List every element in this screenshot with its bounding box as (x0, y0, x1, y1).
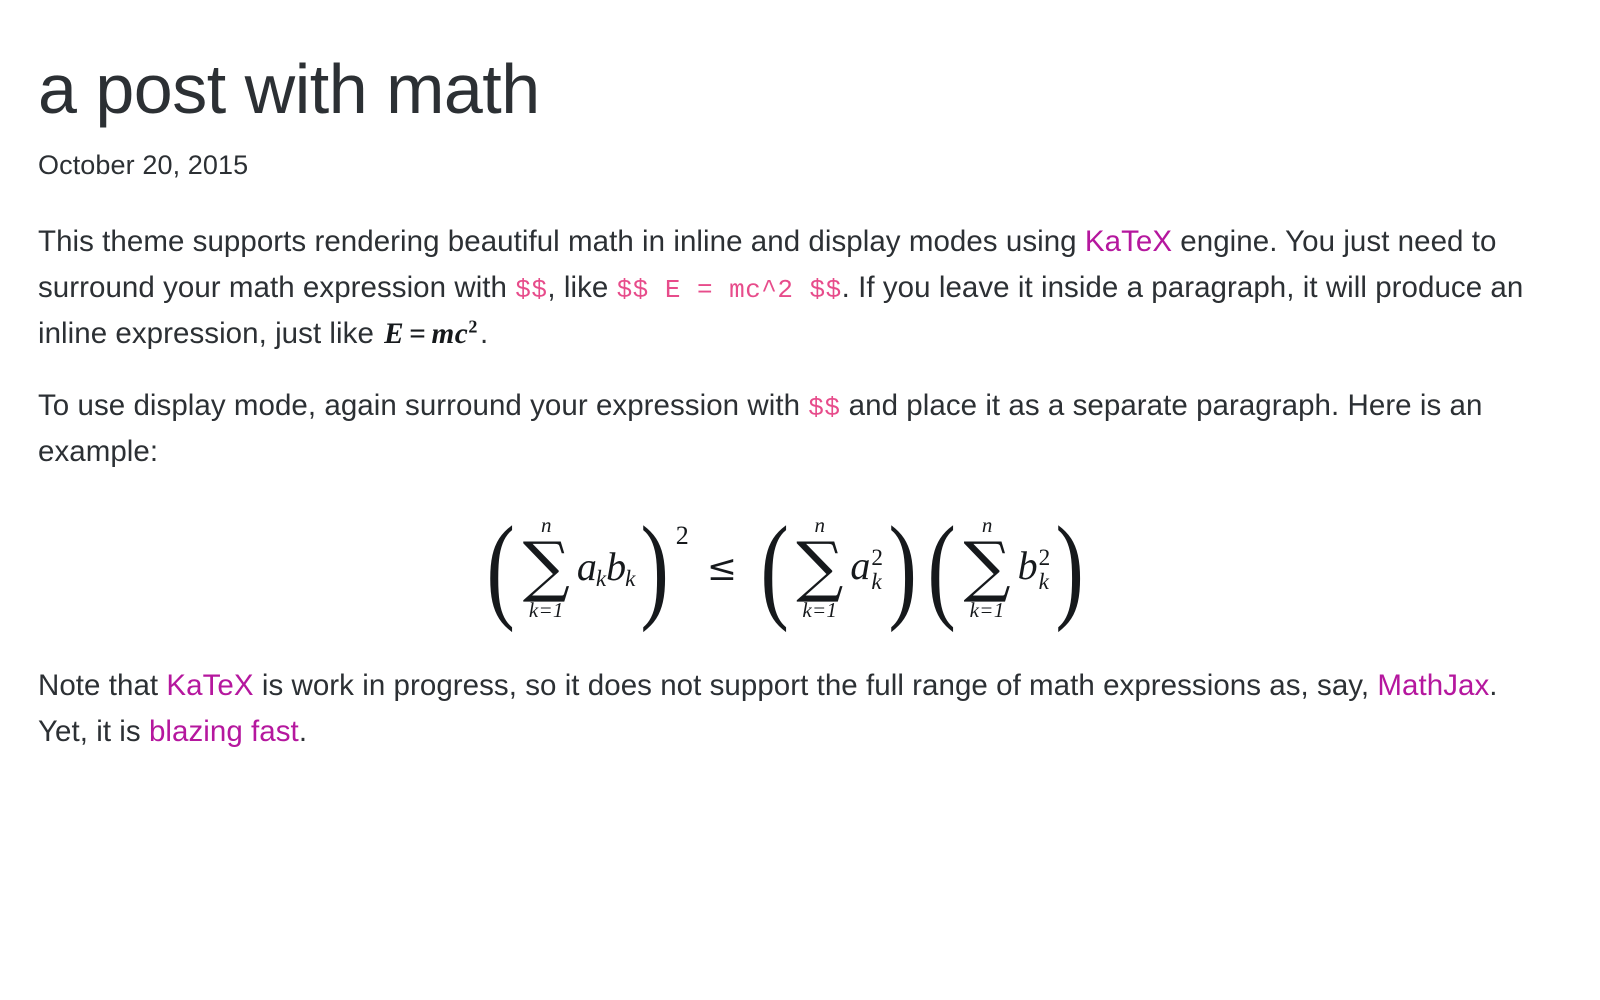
paragraph1-seg5: . (480, 317, 488, 350)
term-ak-squared: a2k (850, 542, 883, 593)
link-blazing-fast[interactable]: blazing fast (149, 715, 299, 748)
term2-superscript: 2 (871, 547, 883, 571)
term2-base: a (850, 543, 870, 588)
term3-subsup: 2k (1039, 547, 1051, 594)
term2-subsup: 2k (871, 547, 883, 594)
post-date: October 20, 2015 (38, 150, 1540, 181)
inline-math-mc: mc (431, 318, 468, 350)
paragraph3-seg2: is work in progress, so it does not supp… (254, 669, 1378, 702)
sigma-icon-3: ∑ (964, 537, 1011, 598)
sigma-icon-1: ∑ (523, 537, 570, 598)
math-group-right: ( n ∑ k=1 b2k ) (922, 515, 1089, 621)
post-body: This theme supports rendering beautiful … (38, 219, 1533, 755)
term-a-base: a (577, 544, 597, 589)
relation-leq: ≤ (707, 548, 737, 589)
display-math-block: ( n ∑ k=1 akbk ) 2 ≤ ( n ∑ (38, 515, 1533, 621)
sum-lower-limit-3: k=1 (970, 600, 1005, 621)
term-ak-bk: akbk (577, 543, 636, 593)
paragraph3-seg4: . (299, 715, 307, 748)
summation-1: n ∑ k=1 (523, 515, 570, 621)
left-paren-2: ( (760, 526, 788, 611)
paragraph1-seg3: , like (547, 271, 616, 304)
left-paren-1: ( (487, 526, 515, 611)
term-b-subscript: k (625, 566, 635, 592)
link-mathjax[interactable]: MathJax (1377, 669, 1489, 702)
term2-subscript: k (871, 571, 883, 595)
inline-math-equals: = (404, 318, 431, 350)
paragraph-display-intro: To use display mode, again surround your… (38, 383, 1533, 475)
inline-math-E: E (384, 318, 404, 350)
right-paren-3: ) (1056, 526, 1084, 611)
term-bk-squared: b2k (1018, 542, 1051, 593)
left-paren-3: ( (928, 526, 956, 611)
paragraph3-seg1: Note that (38, 669, 166, 702)
right-paren-2: ) (888, 526, 916, 611)
term3-superscript: 2 (1039, 547, 1051, 571)
inline-math-exponent: 2 (468, 316, 478, 336)
paragraph2-seg1: To use display mode, again surround your… (38, 389, 808, 422)
sum-lower-limit-2: k=1 (802, 600, 837, 621)
code-dollar-dollar-2: $$ (808, 393, 840, 423)
code-dollar-dollar: $$ (515, 275, 547, 305)
term3-base: b (1018, 543, 1038, 588)
page-title: a post with math (38, 52, 1540, 128)
math-group-middle: ( n ∑ k=1 a2k ) (755, 515, 922, 621)
paragraph-intro: This theme supports rendering beautiful … (38, 219, 1533, 358)
right-paren-1: ) (641, 526, 669, 611)
term3-subscript: k (1039, 571, 1051, 595)
paragraph-note: Note that KaTeX is work in progress, so … (38, 663, 1533, 755)
sigma-icon-2: ∑ (796, 537, 843, 598)
summation-3: n ∑ k=1 (964, 515, 1011, 621)
paragraph1-seg1: This theme supports rendering beautiful … (38, 225, 1085, 258)
term-a-subscript: k (596, 566, 606, 592)
link-katex[interactable]: KaTeX (1085, 225, 1172, 258)
summation-2: n ∑ k=1 (796, 515, 843, 621)
link-katex-2[interactable]: KaTeX (166, 669, 253, 702)
equation-exponent: 2 (676, 521, 689, 551)
sum-lower-limit-1: k=1 (529, 600, 564, 621)
inline-math-emc2: E=mc2 (382, 318, 480, 350)
cauchy-schwarz-equation: ( n ∑ k=1 akbk ) 2 ≤ ( n ∑ (481, 515, 1089, 621)
post-page: a post with math October 20, 2015 This t… (0, 0, 1600, 755)
code-emc2-example: $$ E = mc^2 $$ (617, 275, 842, 305)
math-group-left: ( n ∑ k=1 akbk ) 2 (481, 515, 688, 621)
term-b-base: b (606, 544, 626, 589)
